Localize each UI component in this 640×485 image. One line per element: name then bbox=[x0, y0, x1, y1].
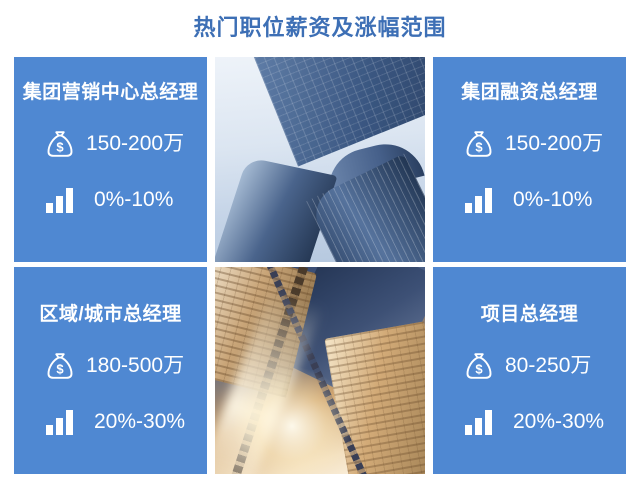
money-bag-icon: $ bbox=[459, 346, 499, 386]
salary-value: 80-250万 bbox=[505, 355, 591, 376]
salary-value: 150-200万 bbox=[86, 133, 184, 154]
growth-value: 20%-30% bbox=[94, 411, 185, 432]
card-title: 区域/城市总经理 bbox=[39, 305, 181, 326]
salary-range-infographic: 热门职位薪资及涨幅范围 集团营销中心总经理 $ 150-200万 bbox=[0, 0, 640, 485]
money-bag-icon: $ bbox=[40, 124, 80, 164]
card-title: 项目总经理 bbox=[481, 305, 579, 326]
growth-value: 0%-10% bbox=[513, 189, 592, 210]
money-bag-icon: $ bbox=[459, 124, 499, 164]
page-title: 热门职位薪资及涨幅范围 bbox=[0, 10, 640, 46]
metric-salary: $ 150-200万 bbox=[40, 124, 207, 164]
metric-growth: 20%-30% bbox=[459, 402, 626, 442]
bar-chart-icon bbox=[40, 402, 80, 442]
growth-value: 0%-10% bbox=[94, 189, 173, 210]
skyscraper-upward-view-photo bbox=[215, 57, 425, 262]
sunset-skyline-photo bbox=[215, 267, 425, 474]
cards-grid: 集团营销中心总经理 $ 150-200万 bbox=[14, 57, 626, 474]
card-metrics: $ 80-250万 20%-30% bbox=[433, 346, 626, 442]
card-metrics: $ 180-500万 20%-30% bbox=[14, 346, 207, 442]
svg-text:$: $ bbox=[56, 361, 64, 376]
card-top-right[interactable]: 集团融资总经理 $ 150-200万 bbox=[433, 57, 626, 262]
metric-growth: 20%-30% bbox=[40, 402, 207, 442]
salary-value: 150-200万 bbox=[505, 133, 603, 154]
metric-growth: 0%-10% bbox=[40, 180, 207, 220]
card-title: 集团融资总经理 bbox=[461, 83, 598, 104]
svg-text:$: $ bbox=[475, 139, 483, 154]
bar-chart-icon bbox=[459, 180, 499, 220]
card-bottom-left[interactable]: 区域/城市总经理 $ 180-500万 bbox=[14, 267, 207, 474]
money-bag-icon: $ bbox=[40, 346, 80, 386]
metric-salary: $ 150-200万 bbox=[459, 124, 626, 164]
photo-sun-glow bbox=[232, 366, 352, 474]
metric-growth: 0%-10% bbox=[459, 180, 626, 220]
card-metrics: $ 150-200万 0%-10% bbox=[433, 124, 626, 220]
svg-text:$: $ bbox=[56, 139, 64, 154]
card-metrics: $ 150-200万 0%-10% bbox=[14, 124, 207, 220]
card-title: 集团营销中心总经理 bbox=[23, 83, 199, 104]
metric-salary: $ 180-500万 bbox=[40, 346, 207, 386]
card-bottom-right[interactable]: 项目总经理 $ 80-250万 bbox=[433, 267, 626, 474]
salary-value: 180-500万 bbox=[86, 355, 184, 376]
card-top-left[interactable]: 集团营销中心总经理 $ 150-200万 bbox=[14, 57, 207, 262]
bar-chart-icon bbox=[40, 180, 80, 220]
growth-value: 20%-30% bbox=[513, 411, 604, 432]
bar-chart-icon bbox=[459, 402, 499, 442]
metric-salary: $ 80-250万 bbox=[459, 346, 626, 386]
page-title-text: 热门职位薪资及涨幅范围 bbox=[193, 17, 446, 39]
svg-text:$: $ bbox=[475, 361, 483, 376]
